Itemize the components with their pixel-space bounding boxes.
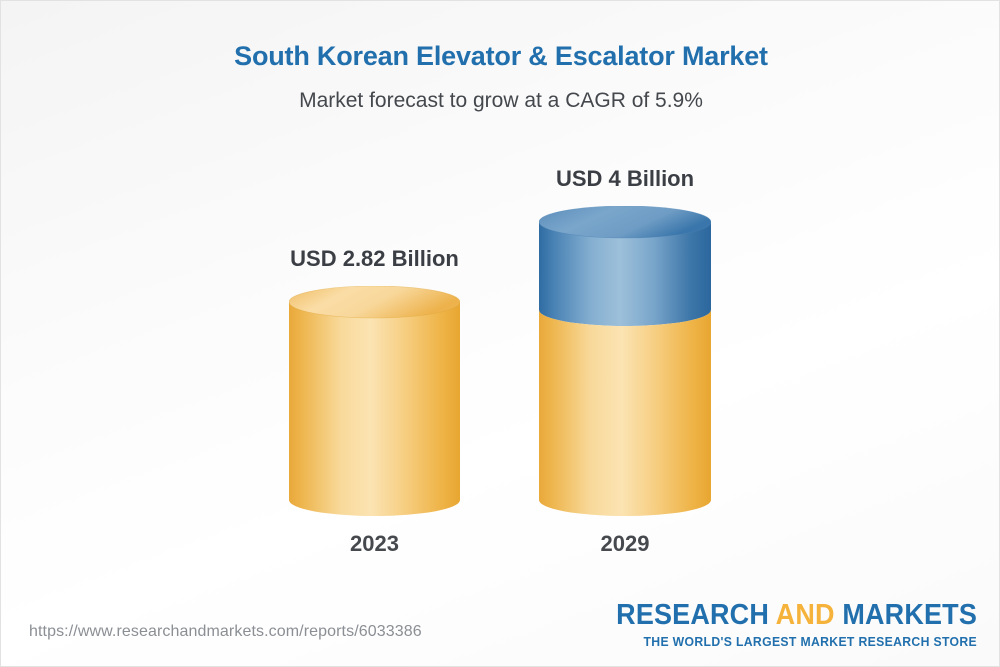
cylinder-bar-2023[interactable] bbox=[289, 286, 460, 526]
chart-plot-area: USD 2.82 Billion 2023 bbox=[1, 1, 1000, 601]
bar-value-label-2023: USD 2.82 Billion bbox=[289, 246, 460, 272]
bar-group-2023: USD 2.82 Billion 2023 bbox=[289, 1, 460, 601]
brand-word-markets: MARKETS bbox=[842, 599, 977, 631]
bar-category-label-2029: 2029 bbox=[539, 531, 711, 557]
bar-group-2029: USD 4 Billion 2029 bbox=[539, 1, 711, 601]
infographic-card: South Korean Elevator & Escalator Market… bbox=[0, 0, 1000, 667]
cylinder-body-gold-2029 bbox=[539, 310, 711, 516]
source-url[interactable]: https://www.researchandmarkets.com/repor… bbox=[29, 623, 422, 641]
cylinder-body-gold-2023 bbox=[289, 302, 460, 516]
brand-wordmark: RESEARCH AND MARKETS bbox=[616, 601, 977, 630]
brand-word-research: RESEARCH bbox=[616, 599, 769, 631]
bar-category-label-2023: 2023 bbox=[289, 531, 460, 557]
brand-tagline: THE WORLD'S LARGEST MARKET RESEARCH STOR… bbox=[601, 635, 977, 649]
cylinder-bar-2029[interactable] bbox=[539, 206, 711, 526]
bar-value-label-2029: USD 4 Billion bbox=[539, 166, 711, 192]
brand-logo: RESEARCH AND MARKETS THE WORLD'S LARGEST… bbox=[589, 601, 977, 649]
brand-word-and: AND bbox=[776, 599, 835, 631]
